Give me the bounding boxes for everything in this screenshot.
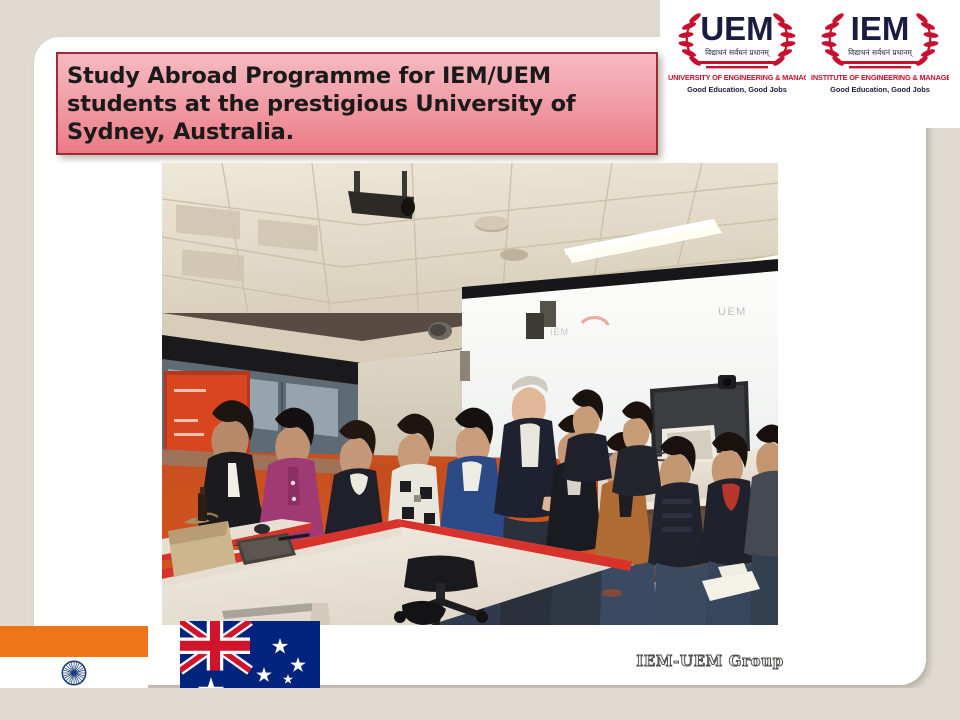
svg-text:IEM: IEM bbox=[550, 327, 569, 337]
presentation-slide: UEM विद्याधनं सर्वधनं प्रधानम् UNIVERSIT… bbox=[0, 0, 960, 720]
india-flag-white-band bbox=[0, 657, 148, 688]
uem-logo-full-name: UNIVERSITY OF ENGINEERING & MANAGEMENT bbox=[668, 73, 806, 82]
footer-brand-label: IEM-UEM Group bbox=[600, 652, 820, 670]
slide-title: Study Abroad Programme for IEM/UEM stude… bbox=[67, 62, 656, 146]
slide-bottom-strip bbox=[0, 688, 960, 720]
iem-logo-full-name: INSTITUTE OF ENGINEERING & MANAGEMENT bbox=[811, 73, 949, 82]
iem-logo: IEM विद्याधनं सर्वधनं प्रधानम् INSTITUTE… bbox=[811, 4, 949, 114]
ashoka-chakra-icon bbox=[61, 660, 87, 686]
slide-title-line-3: Sydney, Australia. bbox=[67, 118, 656, 146]
iem-logo-wordmark: IEM bbox=[811, 12, 949, 46]
slide-title-line-1: Study Abroad Programme for IEM/UEM bbox=[67, 62, 656, 90]
uem-logo-tagline: Good Education, Good Jobs bbox=[668, 85, 806, 94]
iem-logo-sanskrit-motto: विद्याधनं सर्वधनं प्रधानम् bbox=[811, 48, 949, 58]
institution-logos: UEM विद्याधनं सर्वधनं प्रधानम् UNIVERSIT… bbox=[668, 4, 953, 116]
uem-logo-sanskrit-motto: विद्याधनं सर्वधनं प्रधानम् bbox=[668, 48, 806, 58]
slide-title-line-2: students at the prestigious University o… bbox=[67, 90, 656, 118]
iem-logo-tagline: Good Education, Good Jobs bbox=[811, 85, 949, 94]
group-photo: IEM UEM bbox=[162, 163, 778, 625]
uem-logo-wordmark: UEM bbox=[668, 12, 806, 46]
slide-title-box: Study Abroad Programme for IEM/UEM stude… bbox=[56, 52, 658, 155]
uem-logo: UEM विद्याधनं सर्वधनं प्रधानम् UNIVERSIT… bbox=[668, 4, 806, 114]
india-flag-saffron-band bbox=[0, 626, 148, 657]
svg-text:UEM: UEM bbox=[718, 306, 747, 318]
